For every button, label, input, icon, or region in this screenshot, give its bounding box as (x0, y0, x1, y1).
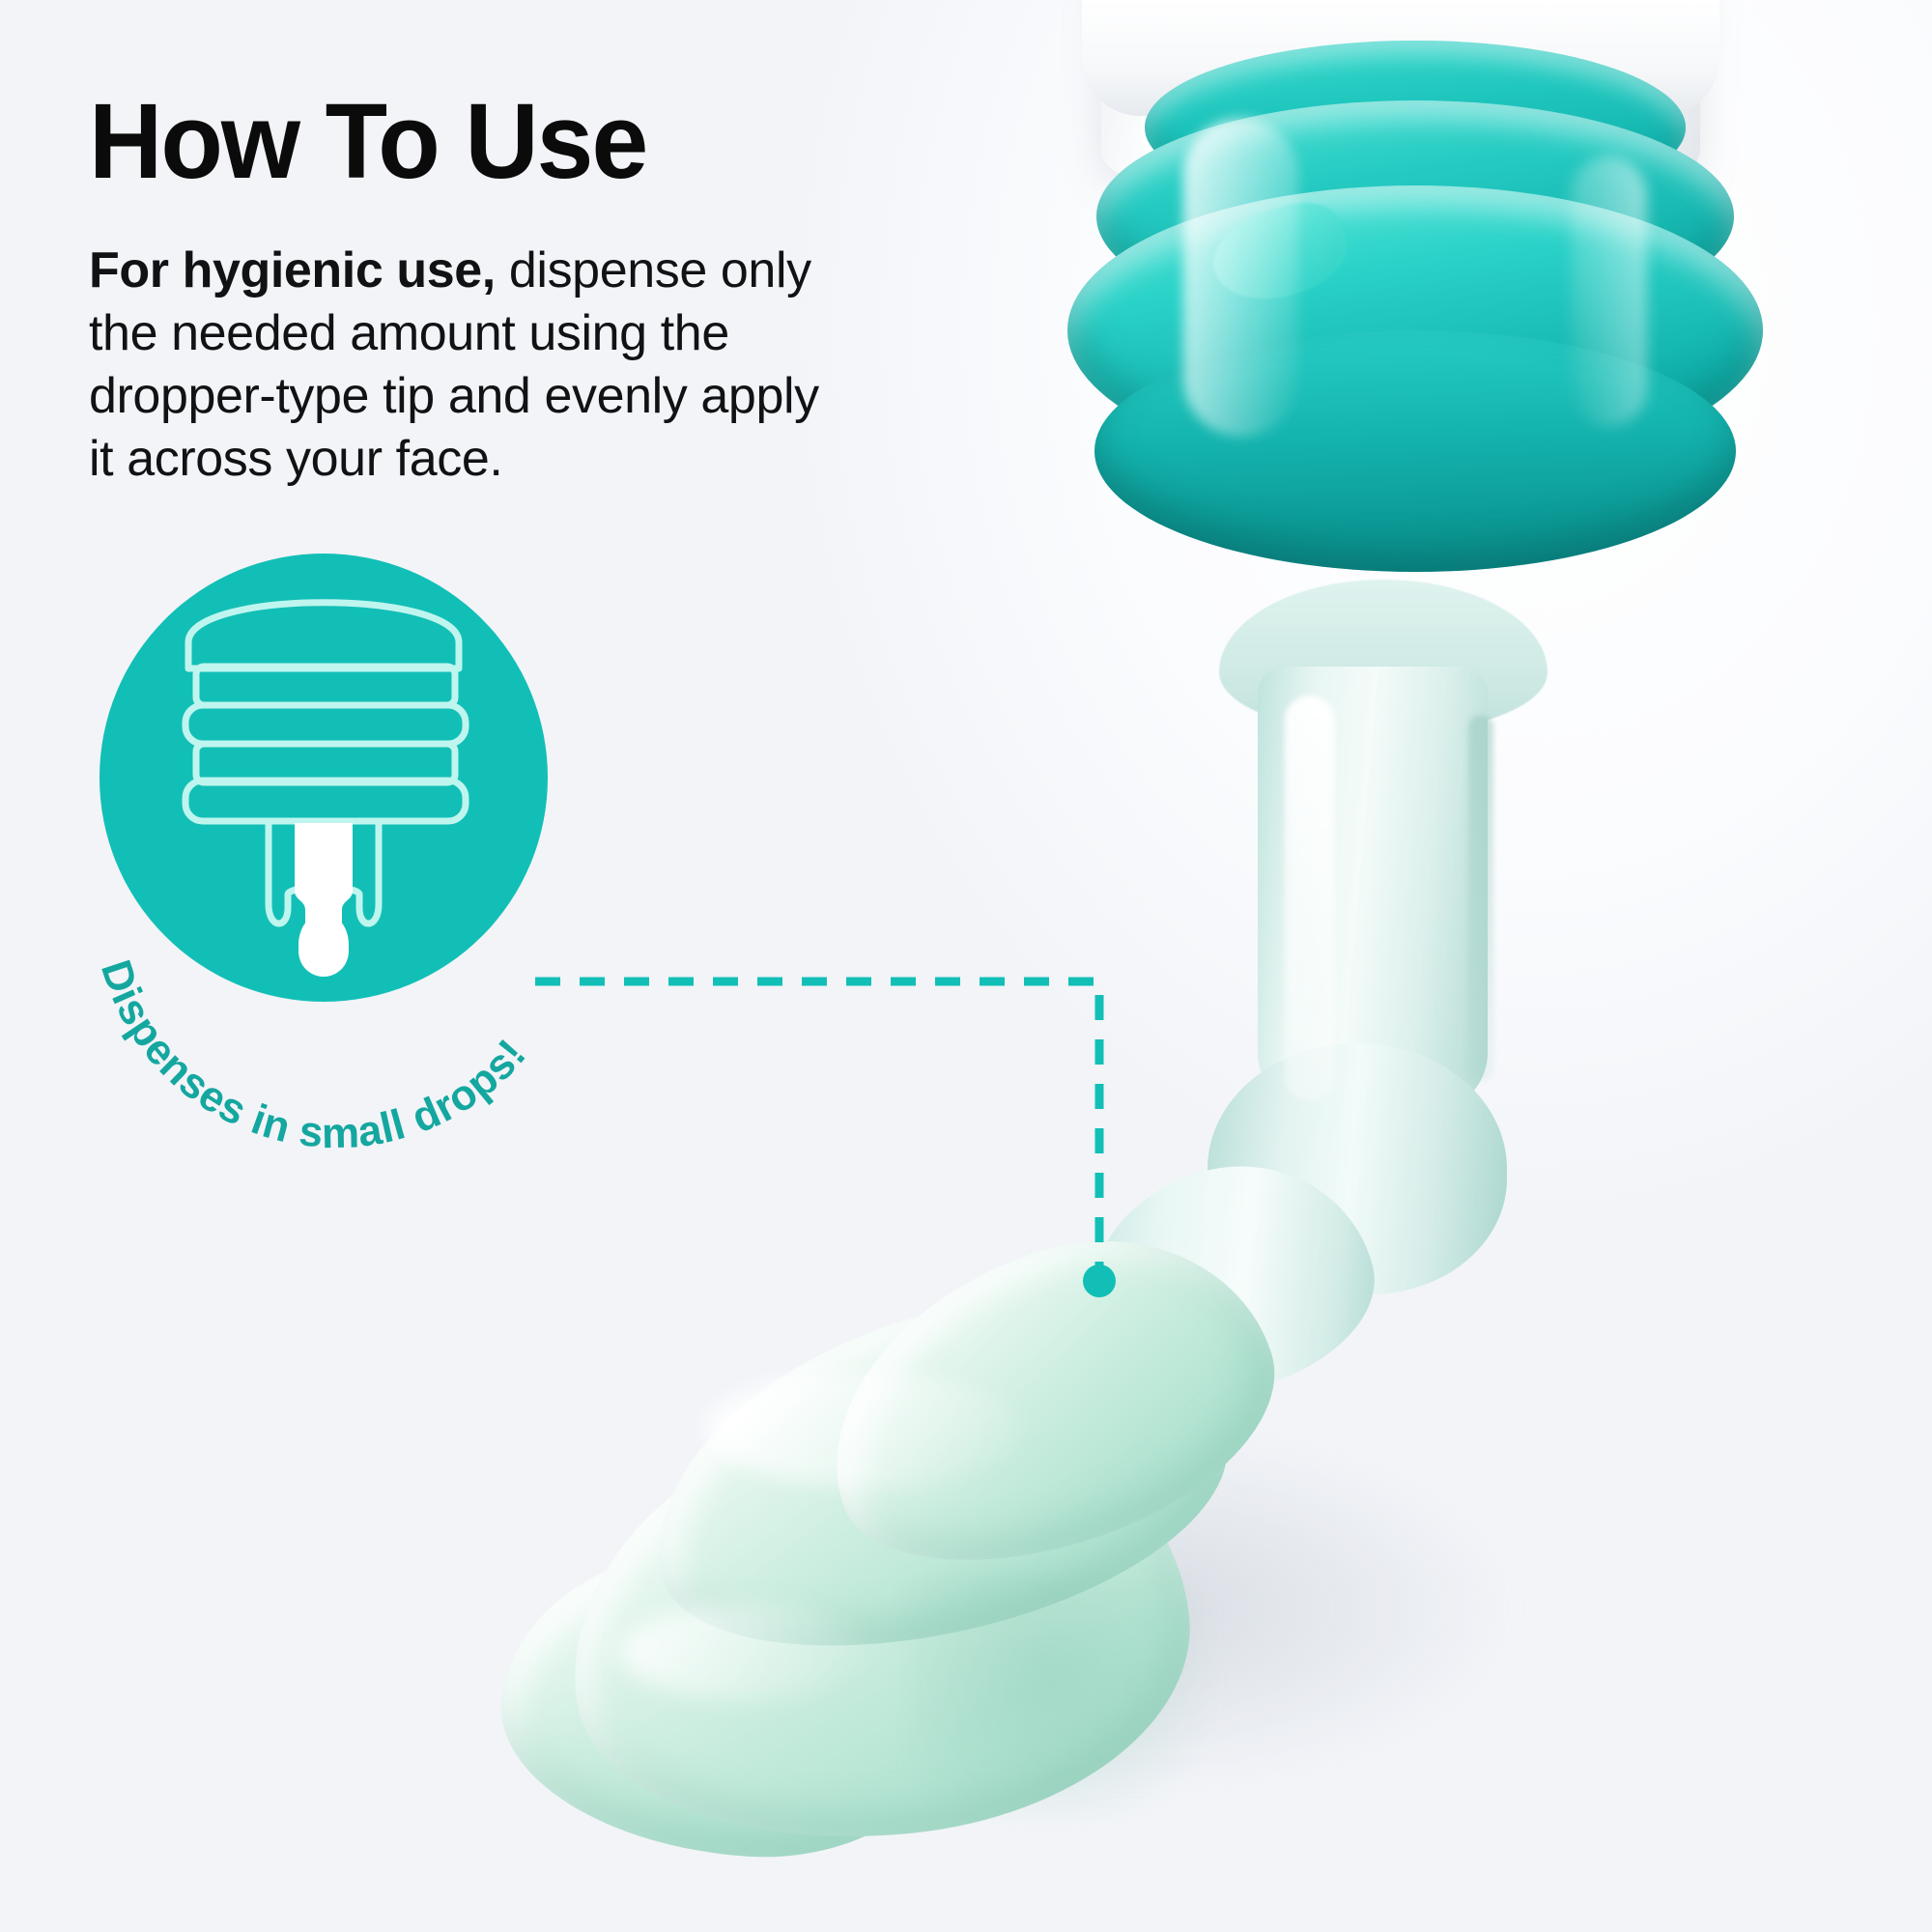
dropper-neck-gloss (1285, 696, 1335, 1101)
cap-highlight-left (1183, 118, 1299, 437)
cap-highlight-right (1570, 156, 1647, 427)
instructions-lead: For hygienic use, (89, 242, 496, 298)
cream-highlight-2 (618, 1604, 869, 1700)
cream-highlight-1 (705, 1372, 1024, 1488)
dashed-callout-line (522, 927, 1140, 1333)
instructions-paragraph: For hygienic use, dispense only the need… (89, 240, 823, 491)
cream-dollop (502, 1256, 1372, 1855)
cream-shading (908, 1575, 1256, 1816)
page-title: How To Use (89, 89, 646, 195)
infographic-canvas: How To Use For hygienic use, dispense on… (0, 0, 1932, 1932)
callout-endpoint-dot (1083, 1264, 1116, 1297)
callout-path (535, 981, 1099, 1277)
dropper-neck-edge (1468, 715, 1493, 1082)
badge-caption-text: Dispenses in small drops! (92, 954, 535, 1157)
